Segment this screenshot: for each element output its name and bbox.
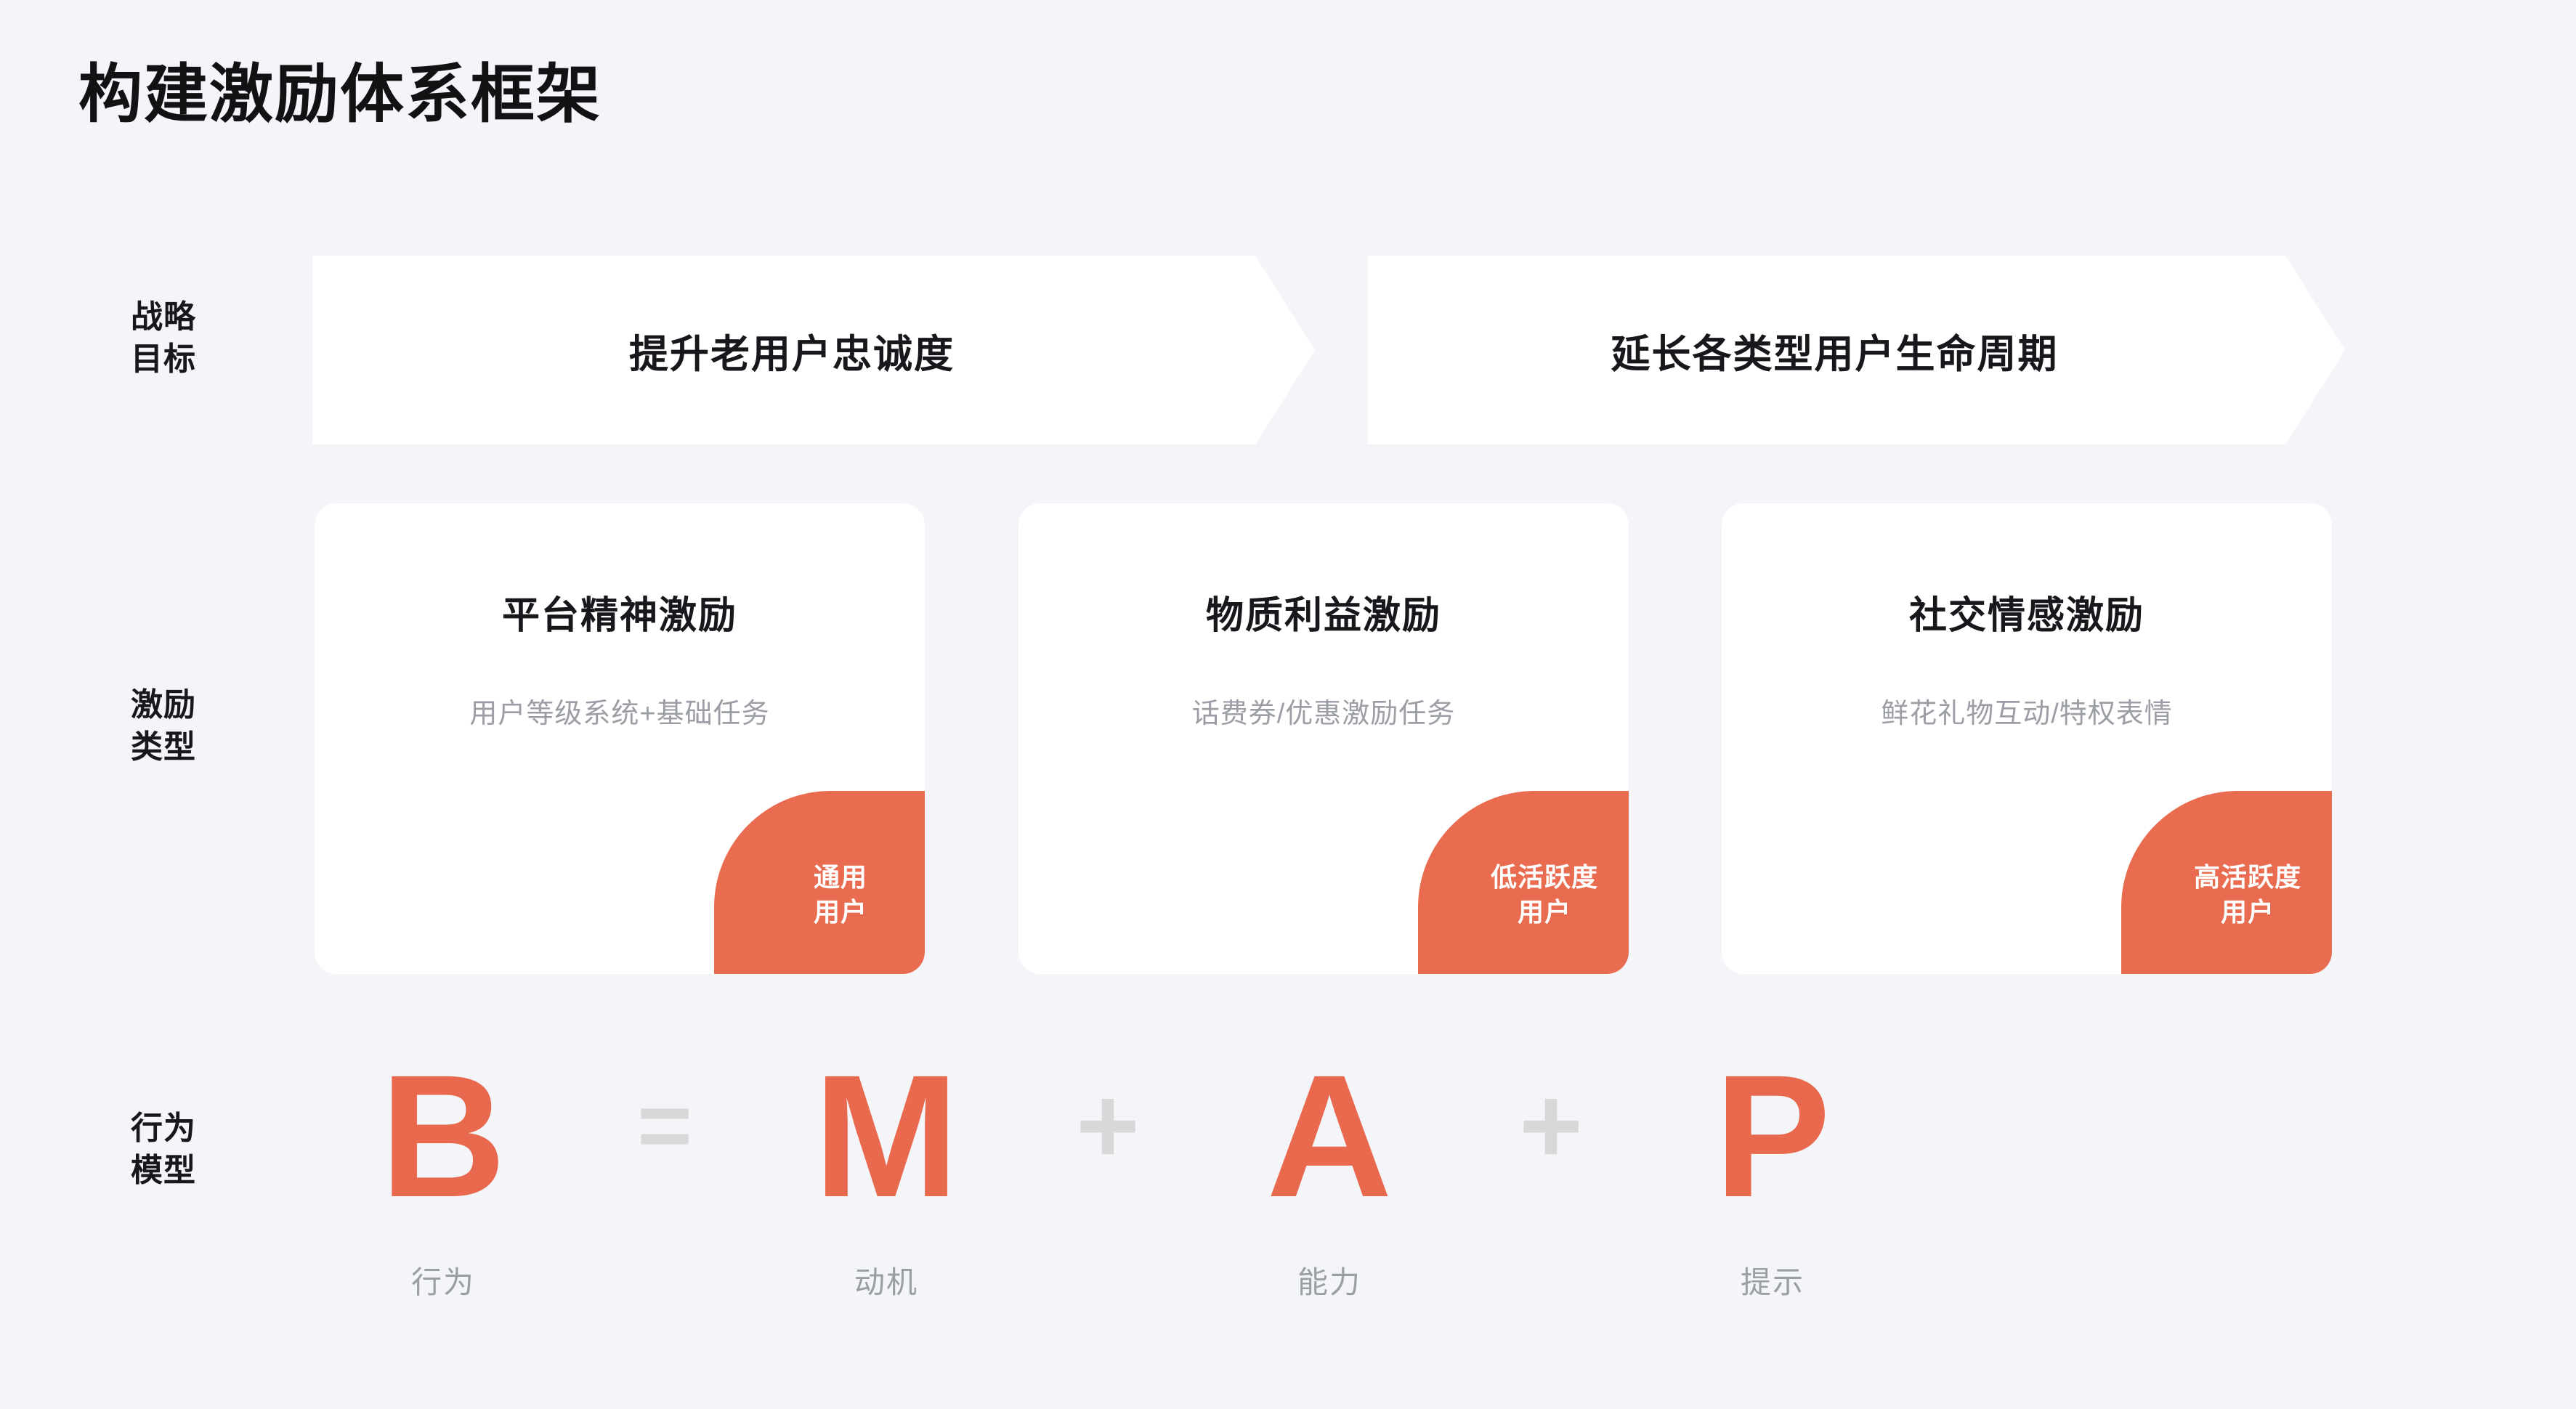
- user-segment-badge-line1: 低活跃度: [1491, 860, 1598, 895]
- row-label-strategy-line1: 战略: [80, 296, 247, 338]
- row-label-strategy: 战略 目标: [80, 296, 247, 381]
- row-label-behavior-line1: 行为: [80, 1108, 247, 1150]
- user-segment-badge: 高活跃度 用户: [2121, 791, 2332, 974]
- formula-letter: A: [1266, 1046, 1392, 1226]
- row-label-behavior: 行为 模型: [80, 1108, 247, 1192]
- behavior-model-formula: B 行为 = M 动机 + A 能力 + P 提示: [312, 1046, 2397, 1373]
- formula-letter: P: [1714, 1046, 1831, 1226]
- incentive-card[interactable]: 物质利益激励 话费券/优惠激励任务 低活跃度 用户: [1018, 503, 1629, 974]
- incentive-card-title: 物质利益激励: [1018, 585, 1629, 639]
- slide-canvas: 构建激励体系框架 战略 目标 提升老用户忠诚度 延长各类型用户生命周期 激励 类…: [0, 0, 2576, 1409]
- user-segment-badge: 低活跃度 用户: [1418, 791, 1629, 974]
- row-label-incentive-line2: 类型: [80, 726, 247, 768]
- strategy-goal-label: 延长各类型用户生命周期: [1611, 322, 2059, 379]
- strategy-goal-label: 提升老用户忠诚度: [629, 322, 955, 379]
- user-segment-badge-line2: 用户: [2221, 895, 2275, 930]
- plus-operator-icon: +: [1017, 1046, 1199, 1226]
- row-label-incentive: 激励 类型: [80, 684, 247, 768]
- formula-letter: M: [814, 1046, 959, 1226]
- formula-term-b: B 行为: [312, 1046, 574, 1302]
- incentive-card-subtitle: 鲜花礼物互动/特权表情: [1722, 691, 2332, 731]
- strategy-goal-banner[interactable]: 延长各类型用户生命周期: [1368, 256, 2345, 444]
- formula-term-label: 行为: [411, 1258, 475, 1302]
- incentive-card[interactable]: 社交情感激励 鲜花礼物互动/特权表情 高活跃度 用户: [1722, 503, 2332, 974]
- formula-letter: B: [380, 1046, 506, 1226]
- formula-term-a: A 能力: [1199, 1046, 1460, 1302]
- formula-term-m: M 动机: [756, 1046, 1017, 1302]
- incentive-card[interactable]: 平台精神激励 用户等级系统+基础任务 通用 用户: [315, 503, 925, 974]
- row-label-incentive-line1: 激励: [80, 684, 247, 726]
- row-label-strategy-line2: 目标: [80, 338, 247, 381]
- equals-operator-icon: =: [574, 1046, 756, 1226]
- incentive-card-subtitle: 用户等级系统+基础任务: [315, 691, 925, 731]
- user-segment-badge-line1: 通用: [814, 860, 867, 895]
- formula-term-label: 能力: [1297, 1258, 1361, 1302]
- user-segment-badge-line2: 用户: [814, 895, 867, 930]
- incentive-card-title: 平台精神激励: [315, 585, 925, 639]
- incentive-card-title: 社交情感激励: [1722, 585, 2332, 639]
- strategy-goal-banner[interactable]: 提升老用户忠诚度: [312, 256, 1315, 444]
- incentive-card-subtitle: 话费券/优惠激励任务: [1018, 691, 1629, 731]
- formula-term-label: 动机: [854, 1258, 918, 1302]
- plus-operator-icon: +: [1460, 1046, 1642, 1226]
- user-segment-badge-line2: 用户: [1518, 895, 1571, 930]
- row-label-behavior-line2: 模型: [80, 1150, 247, 1192]
- user-segment-badge: 通用 用户: [714, 791, 925, 974]
- formula-term-p: P 提示: [1642, 1046, 1903, 1302]
- user-segment-badge-line1: 高活跃度: [2194, 860, 2301, 895]
- page-title: 构建激励体系框架: [78, 60, 602, 130]
- formula-term-label: 提示: [1741, 1258, 1805, 1302]
